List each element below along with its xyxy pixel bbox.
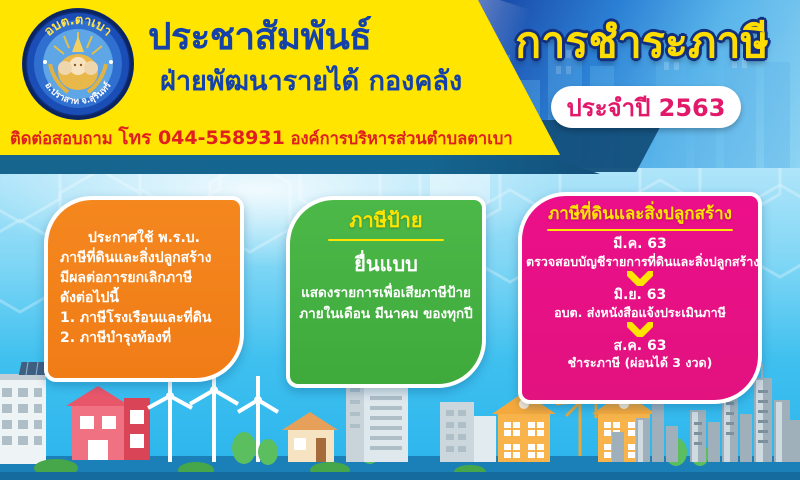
signboard-tax-divider [328,239,444,241]
announcement-line-2: ภาษีที่ดินและสิ่งปลูกสร้าง [56,249,232,269]
municipality-seal-logo: อบต.ตาเบา อ.ปราสาท จ.สุรินทร์ [20,6,136,122]
apartment-building-left [0,374,46,464]
announcement-card: ประกาศใช้ พ.ร.บ. ภาษีที่ดินและสิ่งปลูกสร… [44,196,244,382]
tax-step-3: ส.ค. 63 ชำระภาษี (ผ่อนได้ 3 งวด) [526,338,754,372]
tax-step-3-description: ชำระภาษี (ผ่อนได้ 3 งวด) [526,355,754,371]
signboard-tax-headline: ยื่นแบบ [296,251,476,277]
tax-step-3-date: ส.ค. 63 [526,338,754,356]
chevron-down-icon [627,271,653,286]
chevron-down-icon-2 [627,322,653,337]
header-contact-line: ติดต่อสอบถาม โทร 044-558931 องค์การบริหา… [10,123,480,153]
header-banner: อบต.ตาเบา อ.ปราสาท จ.สุรินทร์ ประชาสัมพั… [0,0,800,172]
contact-phone-label: โทร 044-558931 [118,127,284,149]
signboard-tax-title: ภาษีป้าย [296,208,476,232]
house-red [66,386,150,460]
announcement-line-3: มีผลต่อการยกเลิกภาษี [56,269,232,289]
tax-step-2: มิ.ย. 63 อบต. ส่งหนังสือแจ้งประเมินภาษี [526,287,754,321]
signboard-tax-detail-2: ภายในเดือน มีนาคม ของทุกปี [296,304,476,325]
contact-organization-label: องค์การบริหารส่วนตำบลตาเบา [291,129,513,148]
announcement-item-1: 1. ภาษีโรงเรือนและที่ดิน [56,309,232,329]
tax-step-1-date: มี.ค. 63 [526,236,754,254]
land-building-tax-divider [547,229,733,231]
banner-main-title: การชำระภาษี [492,22,792,65]
announcement-line-4: ดังต่อไปนี้ [56,289,232,309]
banner-year-badge: ประจำปี 2563 [551,86,741,128]
header-title-primary: ประชาสัมพันธ์ [148,18,478,57]
tax-step-1-description: ตรวจสอบบัญชีรายการที่ดินและสิ่งปลูกสร้าง [526,254,754,270]
tax-step-1: มี.ค. 63 ตรวจสอบบัญชีรายการที่ดินและสิ่ง… [526,236,754,270]
header-title-secondary: ฝ่ายพัฒนารายได้ กองคลัง [160,68,490,96]
poster-root: อบต.ตาเบา อ.ปราสาท จ.สุรินทร์ ประชาสัมพั… [0,0,800,480]
signboard-tax-detail-1: แสดงรายการเพื่อเสียภาษีป้าย [296,283,476,304]
tax-step-2-description: อบต. ส่งหนังสือแจ้งประเมินภาษี [526,305,754,321]
office-tower-mid-right [440,402,496,462]
signboard-tax-card: ภาษีป้าย ยื่นแบบ แสดงรายการเพื่อเสียภาษี… [286,196,486,388]
tax-step-2-date: มิ.ย. 63 [526,287,754,305]
land-building-tax-card: ภาษีที่ดินและสิ่งปลูกสร้าง มี.ค. 63 ตรวจ… [518,192,762,404]
announcement-line-1: ประกาศใช้ พ.ร.บ. [56,229,232,249]
house-cream [282,412,338,462]
contact-prefix-label: ติดต่อสอบถาม [10,129,113,148]
land-building-tax-title: ภาษีที่ดินและสิ่งปลูกสร้าง [526,204,754,224]
announcement-item-2: 2. ภาษีบำรุงท้องที่ [56,329,232,349]
